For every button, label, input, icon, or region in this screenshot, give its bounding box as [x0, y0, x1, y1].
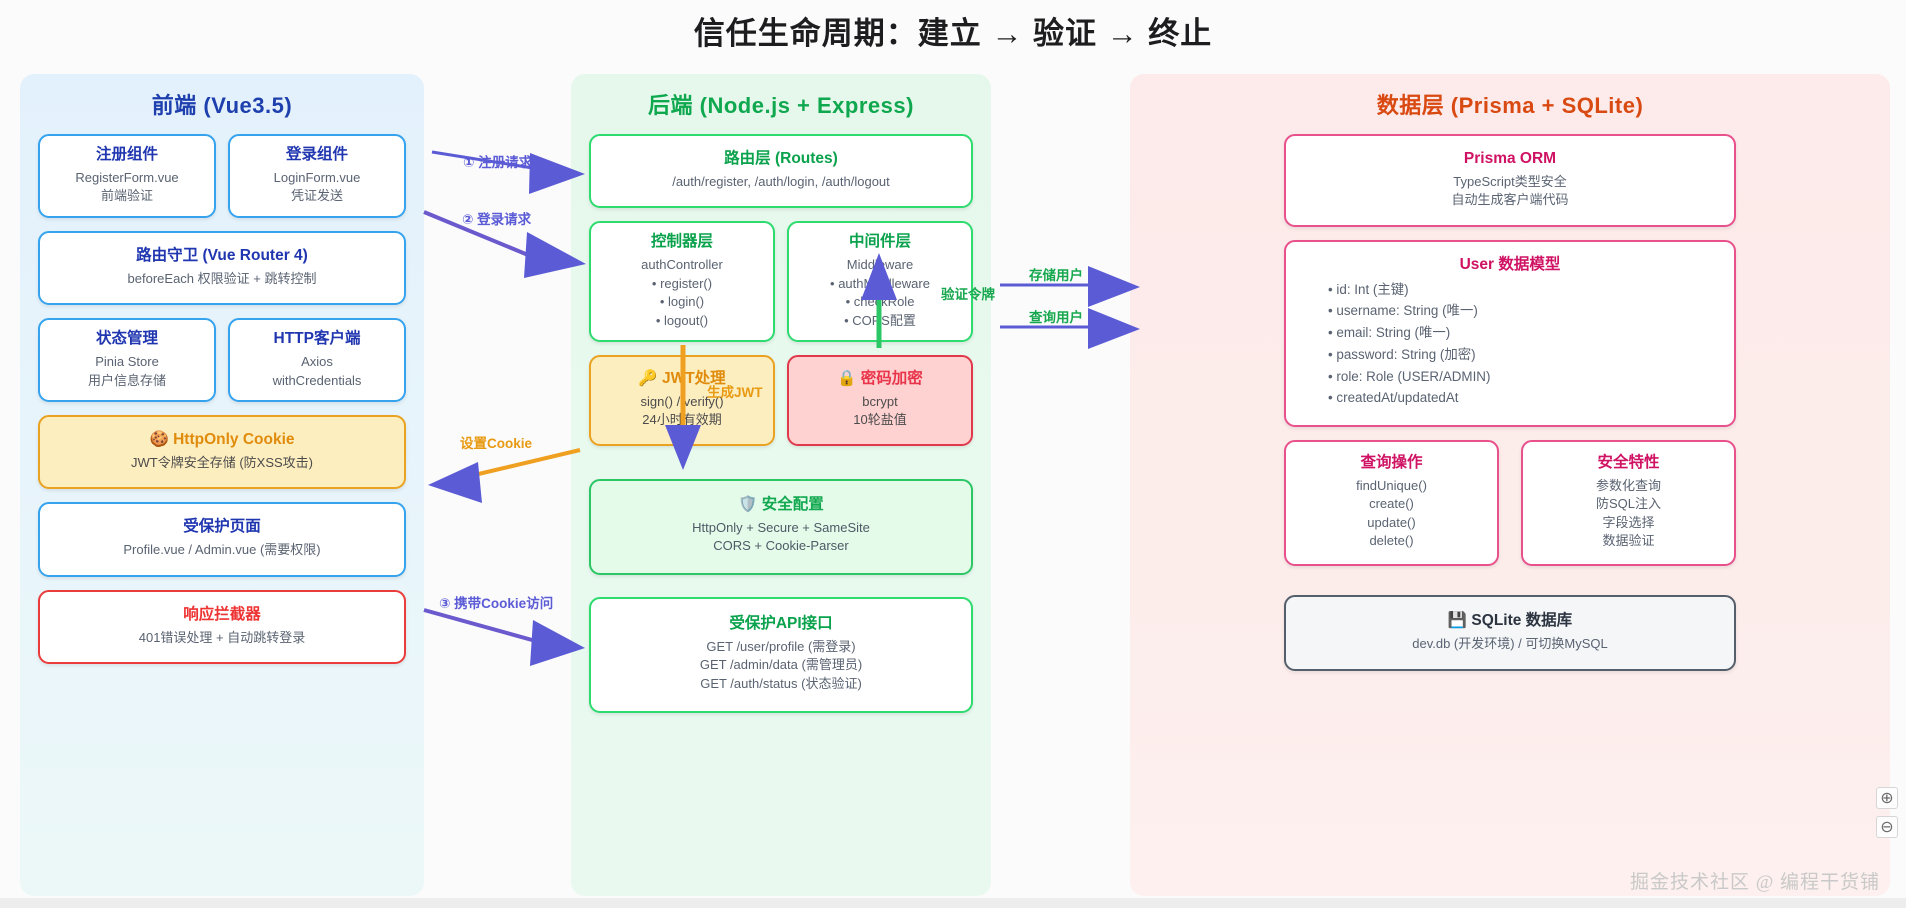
node-line: LoginForm.vue	[238, 169, 396, 187]
node-line: delete()	[1294, 532, 1489, 550]
lock-icon: 🔒	[837, 370, 856, 387]
node-line: /auth/register, /auth/login, /auth/logou…	[599, 173, 963, 191]
node-line: 防SQL注入	[1531, 495, 1726, 513]
zoom-out-icon[interactable]: ⊖	[1876, 816, 1898, 838]
node-line: 数据验证	[1531, 532, 1726, 550]
node-line: • authMiddleware	[797, 275, 963, 293]
model-field: • username: String (唯一)	[1328, 300, 1726, 322]
node-line: Axios	[238, 353, 396, 371]
connector-label-register-request: ① 注册请求	[463, 151, 532, 171]
node-title-text: 密码加密	[861, 370, 923, 387]
node-line: GET /auth/status (状态验证)	[599, 675, 963, 693]
node-line: CORS + Cookie-Parser	[599, 537, 963, 555]
connector-label-set-cookie: 设置Cookie	[460, 432, 532, 452]
node-title: 控制器层	[599, 232, 765, 253]
connector-label-login-request: ② 登录请求	[462, 208, 531, 228]
node-title: 状态管理	[48, 329, 206, 350]
node-title: User 数据模型	[1294, 255, 1726, 276]
node-line: • register()	[599, 275, 765, 293]
user-model-field-list: • id: Int (主键) • username: String (唯一) •…	[1294, 279, 1726, 409]
model-field: • createdAt/updatedAt	[1328, 387, 1726, 409]
node-line: findUnique()	[1294, 477, 1489, 495]
node-user-model[interactable]: User 数据模型 • id: Int (主键) • username: Str…	[1284, 240, 1736, 427]
node-line: Middleware	[797, 256, 963, 274]
frontend-column: 前端 (Vue3.5) 注册组件 RegisterForm.vue 前端验证 登…	[20, 74, 424, 896]
node-title: 路由层 (Routes)	[599, 149, 963, 170]
backend-column-title: 后端 (Node.js + Express)	[589, 88, 973, 120]
node-line: Pinia Store	[48, 353, 206, 371]
node-title: 路由守卫 (Vue Router 4)	[48, 246, 396, 267]
node-line: authController	[599, 256, 765, 274]
node-title: 注册组件	[48, 145, 206, 166]
node-title: 安全特性	[1531, 453, 1726, 474]
node-prisma-orm[interactable]: Prisma ORM TypeScript类型安全 自动生成客户端代码	[1284, 134, 1736, 227]
node-title: 中间件层	[797, 232, 963, 253]
node-title: Prisma ORM	[1294, 149, 1726, 170]
node-title-text: 安全配置	[762, 496, 824, 513]
node-line: dev.db (开发环境) / 可切换MySQL	[1294, 635, 1726, 653]
node-line: 凭证发送	[238, 187, 396, 205]
zoom-in-icon[interactable]: ⊕	[1876, 787, 1898, 809]
node-title: 🍪 HttpOnly Cookie	[48, 430, 396, 451]
watermark: 掘金技术社区 @ 编程干货铺	[1630, 867, 1880, 894]
node-query-operations[interactable]: 查询操作 findUnique() create() update() dele…	[1284, 440, 1499, 566]
node-line: 自动生成客户端代码	[1294, 191, 1726, 209]
node-title: 受保护API接口	[599, 614, 963, 635]
node-routes-layer[interactable]: 路由层 (Routes) /auth/register, /auth/login…	[589, 134, 973, 208]
node-title: 🛡️ 安全配置	[599, 495, 963, 516]
node-line: • CORS配置	[797, 312, 963, 330]
connector-label-verify-token: 验证令牌	[941, 283, 995, 303]
datalayer-column: 数据层 (Prisma + SQLite) Prisma ORM TypeScr…	[1130, 74, 1890, 896]
node-title: 响应拦截器	[48, 605, 396, 626]
model-field: • password: String (加密)	[1328, 344, 1726, 366]
node-line: GET /admin/data (需管理员)	[599, 656, 963, 674]
node-title: 💾 SQLite 数据库	[1294, 611, 1726, 632]
node-line: 10轮盐值	[797, 411, 963, 429]
connector-label-cookie-access: ③ 携带Cookie访问	[439, 592, 553, 612]
diagram-canvas: 信任生命周期：建立 → 验证 → 终止 前端 (Vue3.5) 注册组件 Reg…	[0, 0, 1906, 908]
node-title-text: HttpOnly Cookie	[173, 431, 294, 448]
node-line: RegisterForm.vue	[48, 169, 206, 187]
arrow-set-cookie	[428, 450, 580, 503]
cookie-icon: 🍪	[149, 431, 168, 448]
node-line: 24小时有效期	[599, 411, 765, 429]
node-line: 401错误处理 + 自动跳转登录	[48, 629, 396, 647]
node-security-features[interactable]: 安全特性 参数化查询 防SQL注入 字段选择 数据验证	[1521, 440, 1736, 566]
node-line: HttpOnly + Secure + SameSite	[599, 519, 963, 537]
node-line: 前端验证	[48, 187, 206, 205]
datalayer-column-title: 数据层 (Prisma + SQLite)	[1148, 88, 1872, 120]
node-httponly-cookie[interactable]: 🍪 HttpOnly Cookie JWT令牌安全存储 (防XSS攻击)	[38, 415, 406, 489]
node-line: Profile.vue / Admin.vue (需要权限)	[48, 541, 396, 559]
node-line: bcrypt	[797, 393, 963, 411]
node-middleware-layer[interactable]: 中间件层 Middleware • authMiddleware • check…	[787, 221, 973, 342]
page-title: 信任生命周期：建立 → 验证 → 终止	[0, 8, 1906, 53]
node-title-text: SQLite 数据库	[1471, 612, 1572, 629]
arrow-cookie-access	[424, 610, 585, 666]
backend-column: 后端 (Node.js + Express) 路由层 (Routes) /aut…	[571, 74, 991, 896]
backend-row-controller-middleware: 控制器层 authController • register() • login…	[589, 221, 973, 355]
node-line: TypeScript类型安全	[1294, 173, 1726, 191]
node-title: 登录组件	[238, 145, 396, 166]
datalayer-row-ops-security: 查询操作 findUnique() create() update() dele…	[1284, 440, 1736, 579]
node-controller-layer[interactable]: 控制器层 authController • register() • login…	[589, 221, 775, 342]
node-line: withCredentials	[238, 372, 396, 390]
node-title: 受保护页面	[48, 517, 396, 538]
node-title: HTTP客户端	[238, 329, 396, 350]
node-line: beforeEach 权限验证 + 跳转控制	[48, 270, 396, 288]
node-line: 用户信息存储	[48, 372, 206, 390]
frontend-row-state: 状态管理 Pinia Store 用户信息存储 HTTP客户端 Axios wi…	[38, 318, 406, 415]
node-line: • checkRole	[797, 293, 963, 311]
bottom-bar	[0, 898, 1906, 908]
node-line: 字段选择	[1531, 514, 1726, 532]
node-line: • login()	[599, 293, 765, 311]
shield-icon: 🛡️	[738, 496, 757, 513]
node-line: • logout()	[599, 312, 765, 330]
connector-label-store-user: 存储用户	[1029, 264, 1083, 284]
node-route-guard[interactable]: 路由守卫 (Vue Router 4) beforeEach 权限验证 + 跳转…	[38, 231, 406, 305]
model-field: • id: Int (主键)	[1328, 279, 1726, 301]
connector-label-query-user: 查询用户	[1029, 306, 1083, 326]
node-line: 参数化查询	[1531, 477, 1726, 495]
model-field: • email: String (唯一)	[1328, 322, 1726, 344]
node-register-component[interactable]: 注册组件 RegisterForm.vue 前端验证	[38, 134, 216, 218]
node-title: 🔒 密码加密	[797, 369, 963, 390]
frontend-row-components: 注册组件 RegisterForm.vue 前端验证 登录组件 LoginFor…	[38, 134, 406, 231]
node-security-config[interactable]: 🛡️ 安全配置 HttpOnly + Secure + SameSite COR…	[589, 479, 973, 575]
floppy-disk-icon: 💾	[1448, 612, 1467, 629]
frontend-column-title: 前端 (Vue3.5)	[38, 88, 406, 120]
node-http-client[interactable]: HTTP客户端 Axios withCredentials	[228, 318, 406, 402]
node-line: create()	[1294, 495, 1489, 513]
node-line: JWT令牌安全存储 (防XSS攻击)	[48, 454, 396, 472]
backend-row-jwt-bcrypt: 🔑 JWT处理 sign() / verify() 24小时有效期 🔒 密码加密…	[589, 355, 973, 459]
node-line: GET /user/profile (需登录)	[599, 638, 963, 656]
node-sqlite-database[interactable]: 💾 SQLite 数据库 dev.db (开发环境) / 可切换MySQL	[1284, 595, 1736, 671]
node-protected-pages[interactable]: 受保护页面 Profile.vue / Admin.vue (需要权限)	[38, 502, 406, 576]
node-password-encryption[interactable]: 🔒 密码加密 bcrypt 10轮盐值	[787, 355, 973, 446]
model-field: • role: Role (USER/ADMIN)	[1328, 366, 1726, 388]
node-response-interceptor[interactable]: 响应拦截器 401错误处理 + 自动跳转登录	[38, 590, 406, 664]
node-protected-api[interactable]: 受保护API接口 GET /user/profile (需登录) GET /ad…	[589, 597, 973, 713]
node-line: update()	[1294, 514, 1489, 532]
node-title: 查询操作	[1294, 453, 1489, 474]
key-icon: 🔑	[638, 370, 657, 387]
node-state-management[interactable]: 状态管理 Pinia Store 用户信息存储	[38, 318, 216, 402]
connector-label-generate-jwt: 生成JWT	[707, 381, 763, 401]
node-login-component[interactable]: 登录组件 LoginForm.vue 凭证发送	[228, 134, 406, 218]
